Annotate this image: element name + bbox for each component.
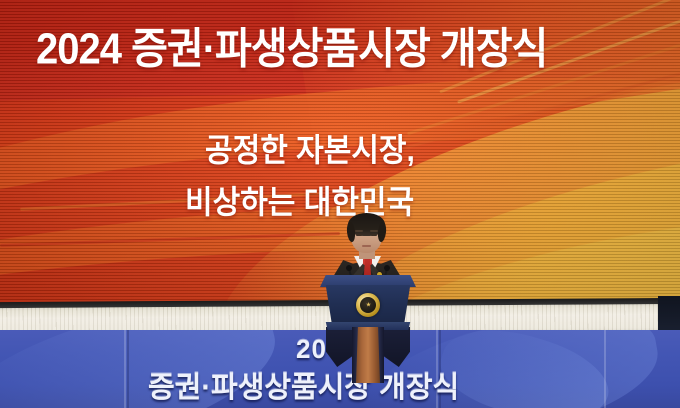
speaker-eye-right — [371, 234, 377, 236]
speaker-hair-right — [377, 222, 387, 243]
podium-wood-column — [356, 327, 380, 383]
podium-wing-right — [382, 327, 410, 367]
photo-scene: 2024 증권·파생상품시장 개장식 공정한 자본시장, 비상하는 대한민국 2… — [0, 0, 680, 408]
speaker-eye-left — [356, 234, 362, 236]
stage-panel-seam-1 — [124, 330, 126, 408]
stage-panel-seam-1b — [127, 330, 129, 408]
microphone-head-right — [384, 265, 390, 271]
speaker-eyebrow-left — [355, 230, 363, 232]
stage-panel-seam-3 — [604, 330, 606, 408]
podium-wing-left — [326, 327, 354, 367]
podium — [320, 275, 416, 408]
speaker-mouth — [362, 245, 371, 247]
microphone-head-left — [346, 265, 352, 271]
led-headline: 2024 증권·파생상품시장 개장식 — [36, 14, 547, 77]
led-slogan-line-1: 공정한 자본시장, — [205, 124, 415, 171]
speaker-eyebrow-right — [370, 230, 378, 232]
